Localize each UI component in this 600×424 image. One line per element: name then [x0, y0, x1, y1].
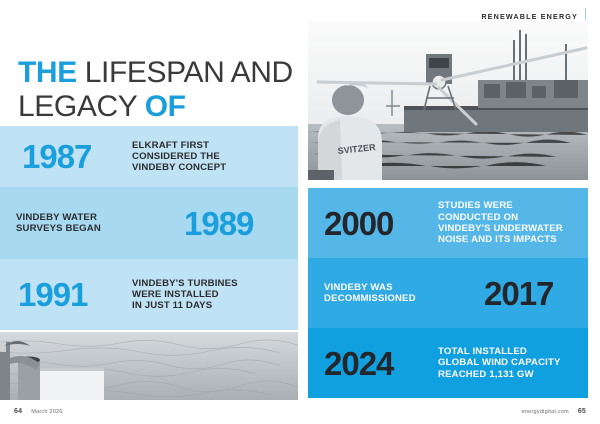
timeline-description: VINDEBY'S TURBINES WERE INSTALLED IN JUS… — [132, 278, 238, 312]
timeline-left: 1987 ELKRAFT FIRST CONSIDERED THE VINDEB… — [0, 126, 298, 330]
title-part-the: THE — [18, 56, 77, 89]
issue-date: March 2026 — [31, 409, 63, 415]
timeline-row: VINDEBY WATER SURVEYS BEGAN 1989 — [0, 187, 298, 259]
footer-left: 64 March 2026 — [14, 408, 63, 415]
footer-right: energydigital.com 65 — [522, 408, 586, 415]
timeline-year: 2017 — [484, 277, 553, 310]
page-number-right: 65 — [578, 408, 586, 415]
timeline-description: STUDIES WERE CONDUCTED ON VINDEBY'S UNDE… — [438, 200, 563, 245]
timeline-description: TOTAL INSTALLED GLOBAL WIND CAPACITY REA… — [438, 346, 561, 380]
timeline-description: VINDEBY WAS DECOMMISSIONED — [324, 282, 484, 305]
timeline-row: 1991 VINDEBY'S TURBINES WERE INSTALLED I… — [0, 259, 298, 330]
timeline-row: VINDEBY WAS DECOMMISSIONED 2017 — [308, 258, 588, 328]
timeline-year: 1989 — [184, 207, 253, 240]
timeline-row: 2024 TOTAL INSTALLED GLOBAL WIND CAPACIT… — [308, 328, 588, 398]
website-url: energydigital.com — [522, 409, 569, 415]
timeline-year: 2000 — [324, 207, 436, 240]
sea-deck-illustration — [0, 332, 298, 400]
timeline-row: 1987 ELKRAFT FIRST CONSIDERED THE VINDEB… — [0, 126, 298, 187]
timeline-year: 1987 — [22, 140, 130, 173]
timeline-right: 2000 STUDIES WERE CONDUCTED ON VINDEBY'S… — [308, 188, 588, 398]
title-part-legacy: LEGACY — [18, 90, 137, 123]
timeline-description: VINDEBY WATER SURVEYS BEGAN — [16, 212, 184, 235]
sea-deck-photo — [0, 332, 298, 400]
timeline-row: 2000 STUDIES WERE CONDUCTED ON VINDEBY'S… — [308, 188, 588, 258]
turbine-installation-illustration: SVITZER — [308, 20, 588, 180]
title-part-lifespan: LIFESPAN AND — [85, 56, 293, 89]
turbine-installation-photo: SVITZER — [308, 20, 588, 180]
page-number-left: 64 — [14, 408, 22, 415]
timeline-year: 2024 — [324, 347, 436, 380]
timeline-year: 1991 — [18, 278, 130, 311]
magazine-spread: RENEWABLE ENERGY THE LIFESPAN AND LEGACY… — [0, 0, 600, 424]
timeline-description: ELKRAFT FIRST CONSIDERED THE VINDEBY CON… — [132, 140, 226, 174]
